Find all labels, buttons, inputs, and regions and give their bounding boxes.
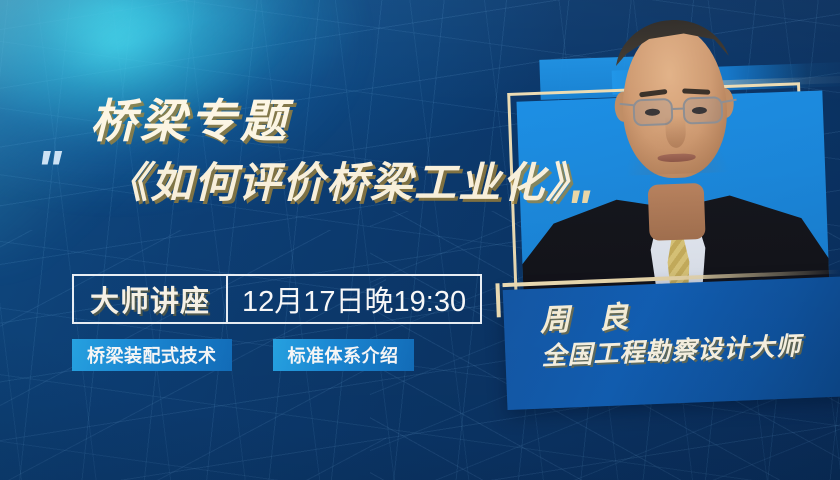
lecture-info-bar: 大师讲座 12月17日晚19:30	[72, 274, 482, 324]
lecture-type-label: 大师讲座	[74, 276, 226, 322]
poster-canvas: 周 良 全国工程勘察设计大师 桥梁专题 " 《如何评价桥梁工业化》 " 大师讲座…	[0, 0, 840, 480]
headline-block: 桥梁专题 " 《如何评价桥梁工业化》 "	[78, 96, 548, 207]
quote-close-icon: "	[566, 183, 586, 233]
topic-tag-2[interactable]: 标准体系介绍	[273, 339, 414, 371]
speaker-name-panel-inner: 周 良 全国工程勘察设计大师	[539, 292, 840, 371]
topic-tag-list: 桥梁装配式技术 标准体系介绍	[72, 339, 414, 371]
quote-open-icon: "	[36, 143, 58, 197]
lecture-datetime: 12月17日晚19:30	[228, 276, 480, 322]
speaker-name-panel: 周 良 全国工程勘察设计大师	[503, 276, 840, 410]
headline-title: 《如何评价桥梁工业化》	[106, 159, 548, 207]
topic-tag-1[interactable]: 桥梁装配式技术	[72, 339, 232, 371]
portrait-glasses-lens-right	[682, 96, 723, 124]
headline-title-row: " 《如何评价桥梁工业化》 "	[78, 159, 548, 207]
headline-topic: 桥梁专题	[90, 96, 548, 147]
portrait-neck	[648, 183, 706, 241]
